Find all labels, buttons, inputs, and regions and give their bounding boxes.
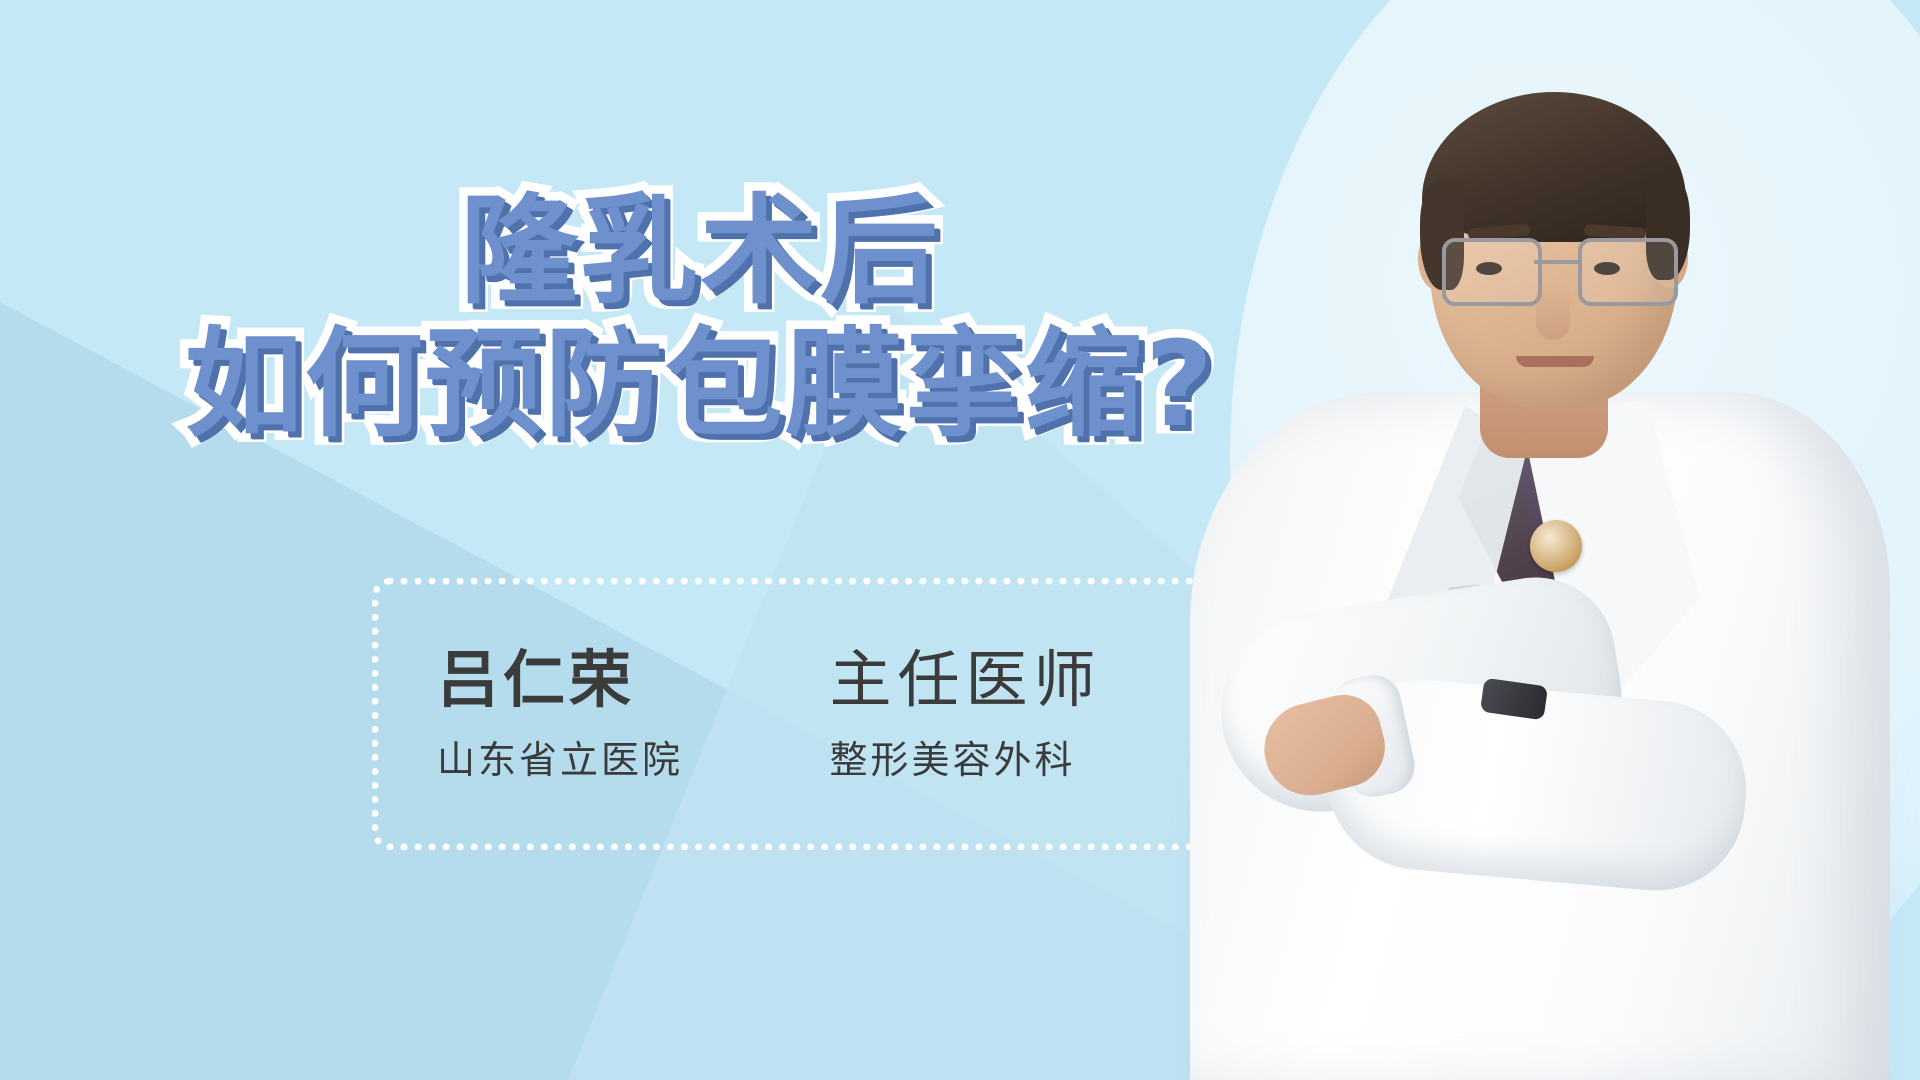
doctor-role-column: 主任医师 整形美容外科 — [829, 649, 1169, 779]
video-cover-poster: 隆乳术后 如何预防包膜挛缩? 吕仁荣 山东省立医院 主任医师 整形美容外科 — [0, 0, 1920, 1080]
doctor-identity-column: 吕仁荣 山东省立医院 — [437, 649, 829, 779]
doctor-photo-alt-text: 身穿白大褂、戴眼镜、双臂交叉的男医生照片 — [1180, 0, 1181, 1]
doctor-portrait-photo: 身穿白大褂、戴眼镜、双臂交叉的男医生照片 — [1180, 0, 1920, 1080]
nose — [1536, 284, 1570, 340]
doctor-credential-card: 吕仁荣 山东省立医院 主任医师 整形美容外科 — [372, 578, 1234, 850]
doctor-name: 吕仁荣 — [437, 649, 829, 711]
glasses-bridge — [1534, 260, 1578, 264]
doctor-credential-content: 吕仁荣 山东省立医院 主任医师 整形美容外科 — [379, 585, 1227, 843]
doctor-hospital: 山东省立医院 — [437, 741, 829, 779]
mouth — [1516, 356, 1594, 367]
doctor-department: 整形美容外科 — [829, 741, 1169, 779]
doctor-title: 主任医师 — [829, 649, 1169, 711]
glasses-lens-right — [1578, 238, 1678, 306]
chest-badge-round — [1530, 520, 1582, 572]
glasses-lens-left — [1442, 238, 1542, 306]
